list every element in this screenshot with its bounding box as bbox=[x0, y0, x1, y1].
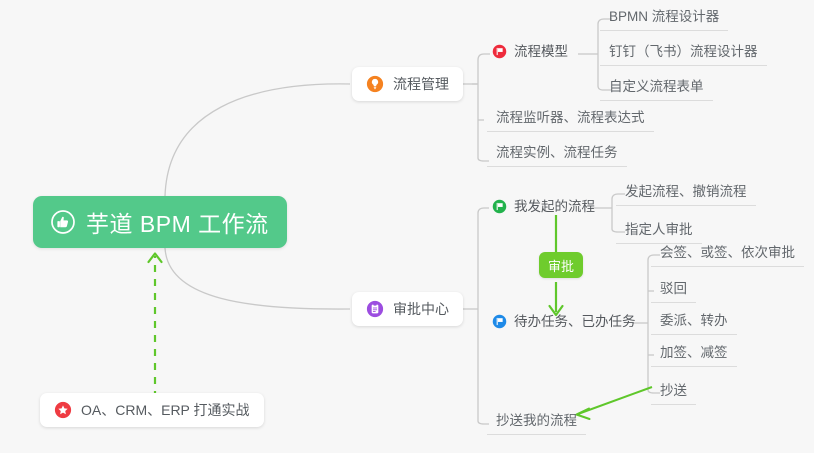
leaf-label: 驳回 bbox=[660, 277, 687, 297]
cc-link-arrow bbox=[577, 387, 653, 419]
footnote-label: OA、CRM、ERP 打通实战 bbox=[81, 400, 250, 420]
branch-label: 审批中心 bbox=[393, 299, 449, 319]
leaf-label: 流程实例、流程任务 bbox=[496, 141, 618, 161]
leaf-reject[interactable]: 驳回 bbox=[651, 279, 696, 303]
leaf-label: BPMN 流程设计器 bbox=[609, 5, 719, 25]
clipboard-icon bbox=[366, 300, 384, 318]
leaf-countersign[interactable]: 会签、或签、依次审批 bbox=[651, 243, 804, 267]
leaf-label: 会签、或签、依次审批 bbox=[660, 241, 795, 261]
mindmap-canvas: 芋道 BPM 工作流 流程管理 流程模型 BPMN 流程设计器 钉钉（飞书）流程 bbox=[0, 0, 814, 453]
leaf-label: 指定人审批 bbox=[625, 218, 693, 238]
leaf-add-remove-sign[interactable]: 加签、减签 bbox=[651, 343, 737, 367]
leaf-label: 钉钉（飞书）流程设计器 bbox=[609, 40, 758, 60]
flag-icon bbox=[492, 199, 507, 214]
node-todo-done[interactable]: 待办任务、已办任务 bbox=[490, 311, 640, 335]
node-process-model[interactable]: 流程模型 bbox=[490, 41, 572, 65]
footnote-node[interactable]: OA、CRM、ERP 打通实战 bbox=[40, 393, 264, 427]
leaf-delegate-transfer[interactable]: 委派、转办 bbox=[651, 311, 737, 335]
leaf-cc-to-me[interactable]: 抄送我的流程 bbox=[487, 411, 586, 435]
branch-approval-center[interactable]: 审批中心 bbox=[352, 292, 463, 326]
lightbulb-icon bbox=[366, 75, 384, 93]
thumbs-up-icon bbox=[51, 210, 75, 234]
node-label: 流程模型 bbox=[514, 40, 568, 60]
flag-icon bbox=[492, 44, 507, 59]
leaf-label: 发起流程、撤销流程 bbox=[625, 180, 747, 200]
leaf-instance-task[interactable]: 流程实例、流程任务 bbox=[487, 143, 627, 167]
leaf-dingtalk-feishu-designer[interactable]: 钉钉（飞书）流程设计器 bbox=[600, 42, 767, 66]
leaf-start-cancel[interactable]: 发起流程、撤销流程 bbox=[616, 182, 756, 206]
leaf-bpmn-designer[interactable]: BPMN 流程设计器 bbox=[600, 7, 728, 31]
approval-badge[interactable]: 审批 bbox=[539, 252, 583, 278]
branch-label: 流程管理 bbox=[393, 74, 449, 94]
root-label: 芋道 BPM 工作流 bbox=[86, 205, 269, 239]
leaf-listener-expression[interactable]: 流程监听器、流程表达式 bbox=[487, 108, 654, 132]
root-node[interactable]: 芋道 BPM 工作流 bbox=[33, 196, 287, 248]
leaf-label: 委派、转办 bbox=[660, 309, 728, 329]
leaf-label: 抄送 bbox=[660, 379, 687, 399]
dashed-uplink-arrow bbox=[149, 254, 162, 399]
flag-icon bbox=[492, 314, 507, 329]
badge-label: 审批 bbox=[548, 256, 574, 275]
leaf-label: 自定义流程表单 bbox=[609, 75, 704, 95]
leaf-custom-process-form[interactable]: 自定义流程表单 bbox=[600, 77, 713, 101]
leaf-label: 抄送我的流程 bbox=[496, 409, 577, 429]
node-my-initiated[interactable]: 我发起的流程 bbox=[490, 196, 599, 220]
node-label: 待办任务、已办任务 bbox=[514, 310, 636, 330]
leaf-label: 流程监听器、流程表达式 bbox=[496, 106, 645, 126]
star-icon bbox=[54, 401, 72, 419]
branch-process-management[interactable]: 流程管理 bbox=[352, 67, 463, 101]
leaf-label: 加签、减签 bbox=[660, 341, 728, 361]
node-label: 我发起的流程 bbox=[514, 195, 595, 215]
leaf-cc[interactable]: 抄送 bbox=[651, 381, 696, 405]
